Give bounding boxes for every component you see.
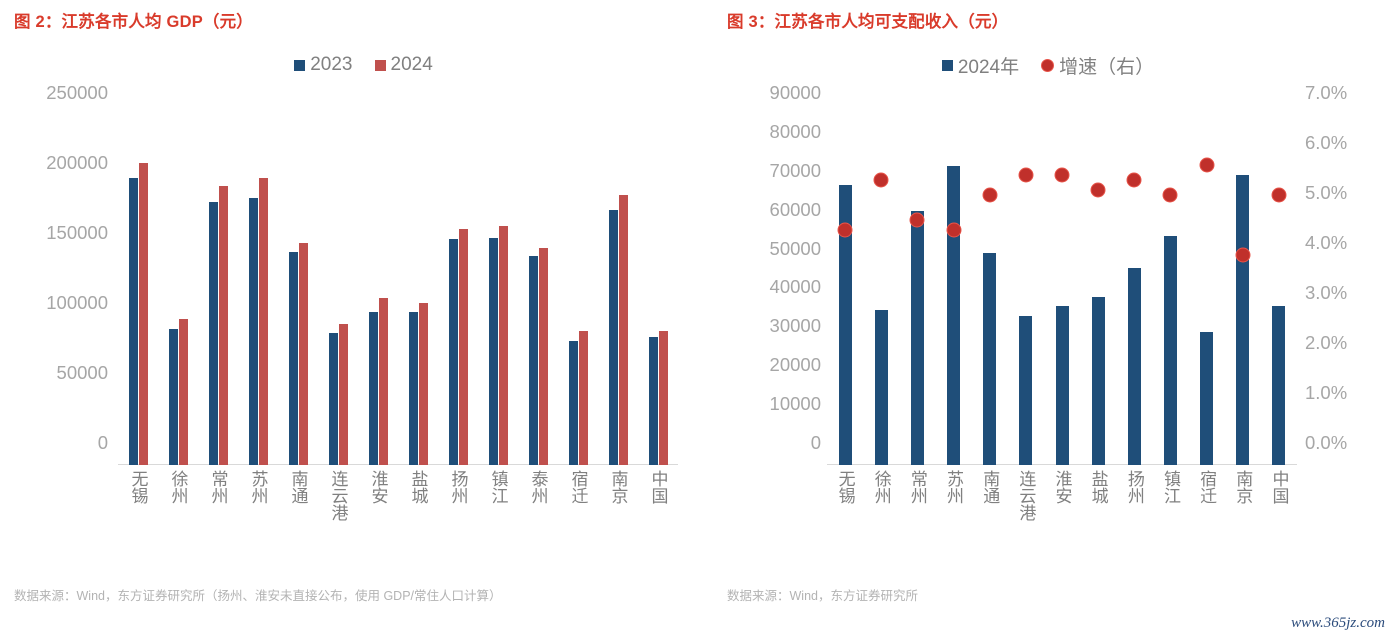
bar[interactable]: [579, 331, 588, 465]
x-axis-label: 宿迁: [1198, 470, 1215, 521]
y-axis-tick: 3.0%: [1305, 282, 1347, 304]
bar[interactable]: [1272, 306, 1285, 465]
x-axis-label: 盐城: [1090, 470, 1107, 521]
bar-group: [278, 115, 318, 465]
x-axis-label-cell: 镇江: [478, 470, 518, 521]
bar[interactable]: [649, 337, 658, 465]
bar[interactable]: [209, 202, 218, 465]
x-axis-label: 苏州: [945, 470, 962, 521]
bar[interactable]: [529, 256, 538, 465]
bar[interactable]: [409, 312, 418, 465]
bar-group: [638, 115, 678, 465]
bar[interactable]: [449, 239, 458, 465]
bar[interactable]: [1200, 332, 1213, 465]
x-axis-label-cell: 南通: [972, 470, 1008, 521]
bar[interactable]: [219, 186, 228, 465]
figure-3-y-axis-right: 0.0%1.0%2.0%3.0%4.0%5.0%6.0%7.0%: [1305, 115, 1395, 465]
bar-group: [558, 115, 598, 465]
bar-group: [1116, 115, 1152, 465]
bar-group: [863, 115, 899, 465]
figure-3-plot: [827, 115, 1297, 465]
x-axis-label: 宿迁: [570, 470, 587, 521]
x-axis-label: 淮安: [370, 470, 387, 521]
bar[interactable]: [139, 163, 148, 465]
y-axis-tick: 70000: [770, 160, 821, 182]
y-axis-tick: 40000: [770, 276, 821, 298]
y-axis-tick: 250000: [46, 82, 108, 104]
legend-item-2024[interactable]: 2024: [375, 54, 433, 76]
bar-series-container: [118, 115, 678, 465]
bar-group: [1189, 115, 1225, 465]
x-axis-label-cell: 无锡: [827, 470, 863, 521]
y-axis-tick: 50000: [57, 362, 108, 384]
x-axis-label: 南通: [290, 470, 307, 521]
x-axis-label-cell: 常州: [198, 470, 238, 521]
y-axis-tick: 1.0%: [1305, 382, 1347, 404]
x-axis-label-cell: 连云港: [318, 470, 358, 521]
legend-label: 2024: [391, 54, 433, 76]
bar[interactable]: [1128, 268, 1141, 465]
y-axis-tick: 0: [98, 432, 108, 454]
x-axis-label-cell: 南京: [1225, 470, 1261, 521]
legend-label: 2024年: [958, 52, 1019, 79]
bar[interactable]: [419, 303, 428, 465]
legend-item-2023[interactable]: 2023: [294, 54, 352, 76]
y-axis-tick: 0.0%: [1305, 432, 1347, 454]
bar-group: [1080, 115, 1116, 465]
legend-label: 增速（右）: [1059, 52, 1154, 79]
x-axis-label-cell: 中国: [638, 470, 678, 521]
bar[interactable]: [609, 210, 618, 465]
x-axis-label-cell: 扬州: [438, 470, 478, 521]
bar[interactable]: [539, 248, 548, 465]
y-axis-tick: 5.0%: [1305, 182, 1347, 204]
x-axis-label-cell: 无锡: [118, 470, 158, 521]
figure-2-x-axis-labels: 无锡徐州常州苏州南通连云港淮安盐城扬州镇江泰州宿迁南京中国: [118, 470, 678, 521]
y-axis-tick: 90000: [770, 82, 821, 104]
x-axis-label-cell: 连云港: [1008, 470, 1044, 521]
legend-swatch-icon: [942, 60, 953, 71]
bar-group: [899, 115, 935, 465]
bar[interactable]: [499, 226, 508, 465]
x-axis-label: 无锡: [837, 470, 854, 521]
bar-group: [1225, 115, 1261, 465]
bar-group: [827, 115, 863, 465]
bar[interactable]: [369, 312, 378, 465]
bar[interactable]: [299, 243, 308, 465]
legend-item-2024-year[interactable]: 2024年: [942, 52, 1019, 79]
bar[interactable]: [1019, 316, 1032, 465]
bar[interactable]: [339, 324, 348, 465]
x-axis-label: 泰州: [530, 470, 547, 521]
figure-3-legend: 2024年 增速（右）: [727, 54, 1399, 76]
bar-group: [935, 115, 971, 465]
bar[interactable]: [839, 185, 852, 465]
x-axis-label-cell: 宿迁: [558, 470, 598, 521]
x-axis-label: 盐城: [410, 470, 427, 521]
bar-group: [972, 115, 1008, 465]
bar-group: [1044, 115, 1080, 465]
bar[interactable]: [911, 211, 924, 465]
bar-group: [1152, 115, 1188, 465]
x-axis-label: 徐州: [873, 470, 890, 521]
y-axis-tick: 60000: [770, 199, 821, 221]
y-axis-tick: 80000: [770, 121, 821, 143]
x-axis-label-cell: 苏州: [238, 470, 278, 521]
x-axis-label: 苏州: [250, 470, 267, 521]
x-axis-label-cell: 徐州: [863, 470, 899, 521]
y-axis-tick: 7.0%: [1305, 82, 1347, 104]
x-axis-label-cell: 泰州: [518, 470, 558, 521]
bar[interactable]: [1092, 297, 1105, 465]
figure-2: 图 2：江苏各市人均 GDP（元） 2023 2024 050000100000…: [0, 0, 713, 640]
bar-group: [358, 115, 398, 465]
bar[interactable]: [489, 238, 498, 466]
bar-group: [118, 115, 158, 465]
x-axis-label: 徐州: [170, 470, 187, 521]
y-axis-tick: 30000: [770, 315, 821, 337]
bar[interactable]: [659, 331, 668, 465]
x-axis-label: 无锡: [130, 470, 147, 521]
x-axis-label-cell: 镇江: [1152, 470, 1188, 521]
legend-item-growth-rate[interactable]: 增速（右）: [1041, 52, 1154, 79]
x-axis-label: 常州: [909, 470, 926, 521]
x-axis-label: 中国: [1270, 470, 1287, 521]
bar-group: [198, 115, 238, 465]
bar[interactable]: [459, 229, 468, 465]
figure-3-source: 数据来源：Wind，东方证券研究所: [727, 586, 1327, 608]
x-axis-label: 连云港: [1017, 470, 1034, 521]
figure-3-title: 图 3：江苏各市人均可支配收入（元）: [727, 8, 1399, 32]
x-axis-label: 南京: [610, 470, 627, 521]
x-axis-label-cell: 常州: [899, 470, 935, 521]
bar-group: [518, 115, 558, 465]
y-axis-tick: 200000: [46, 152, 108, 174]
bar-group: [1008, 115, 1044, 465]
bar-group: [598, 115, 638, 465]
bar[interactable]: [169, 329, 178, 466]
x-axis-label-cell: 苏州: [935, 470, 971, 521]
figure-2-title: 图 2：江苏各市人均 GDP（元）: [14, 8, 713, 32]
legend-label: 2023: [310, 54, 352, 76]
bar[interactable]: [259, 178, 268, 465]
x-axis-label: 南通: [981, 470, 998, 521]
legend-swatch-icon: [294, 60, 305, 71]
x-axis-label-cell: 盐城: [1080, 470, 1116, 521]
figure-3: 图 3：江苏各市人均可支配收入（元） 2024年 增速（右） 010000200…: [713, 0, 1399, 640]
figure-2-source: 数据来源：Wind，东方证券研究所（扬州、淮安未直接公布，使用 GDP/常住人口…: [14, 586, 674, 608]
bar[interactable]: [569, 341, 578, 465]
x-axis-label: 扬州: [450, 470, 467, 521]
bar[interactable]: [1056, 306, 1069, 465]
x-axis-label: 中国: [650, 470, 667, 521]
x-axis-label-cell: 南通: [278, 470, 318, 521]
y-axis-tick: 150000: [46, 222, 108, 244]
figure-2-y-axis: 050000100000150000200000250000: [0, 115, 108, 465]
bar[interactable]: [379, 298, 388, 465]
bar-group: [398, 115, 438, 465]
figure-2-legend: 2023 2024: [14, 54, 713, 76]
bar[interactable]: [1164, 236, 1177, 465]
x-axis-label: 南京: [1234, 470, 1251, 521]
x-axis-label-cell: 淮安: [1044, 470, 1080, 521]
x-axis-label: 扬州: [1126, 470, 1143, 521]
y-axis-tick: 2.0%: [1305, 332, 1347, 354]
bar[interactable]: [289, 252, 298, 466]
bar-group: [1261, 115, 1297, 465]
x-axis-label: 常州: [210, 470, 227, 521]
y-axis-tick: 4.0%: [1305, 232, 1347, 254]
x-axis-label-cell: 中国: [1261, 470, 1297, 521]
bar[interactable]: [329, 333, 338, 465]
bar-group: [318, 115, 358, 465]
x-axis-label: 连云港: [330, 470, 347, 521]
bar[interactable]: [875, 310, 888, 465]
figure-3-x-axis-labels: 无锡徐州常州苏州南通连云港淮安盐城扬州镇江宿迁南京中国: [827, 470, 1297, 521]
figure-3-y-axis-left: 0100002000030000400005000060000700008000…: [717, 115, 821, 465]
x-axis-label-cell: 宿迁: [1189, 470, 1225, 521]
y-axis-tick: 100000: [46, 292, 108, 314]
figure-2-plot: [118, 115, 678, 465]
x-axis-label: 镇江: [490, 470, 507, 521]
bar[interactable]: [947, 166, 960, 465]
x-axis-label-cell: 淮安: [358, 470, 398, 521]
bar-group: [238, 115, 278, 465]
y-axis-tick: 50000: [770, 238, 821, 260]
x-axis-label-cell: 盐城: [398, 470, 438, 521]
x-axis-label: 镇江: [1162, 470, 1179, 521]
x-axis-label-cell: 南京: [598, 470, 638, 521]
bar[interactable]: [619, 195, 628, 465]
bar-group: [438, 115, 478, 465]
legend-dot-icon: [1041, 59, 1054, 72]
x-axis-label: 淮安: [1054, 470, 1071, 521]
legend-swatch-icon: [375, 60, 386, 71]
bar-group: [478, 115, 518, 465]
y-axis-tick: 6.0%: [1305, 132, 1347, 154]
x-axis-label-cell: 扬州: [1116, 470, 1152, 521]
bar[interactable]: [179, 319, 188, 465]
y-axis-tick: 20000: [770, 354, 821, 376]
y-axis-tick: 0: [811, 432, 821, 454]
bar[interactable]: [983, 253, 996, 465]
x-axis-label-cell: 徐州: [158, 470, 198, 521]
bar-group: [158, 115, 198, 465]
bar-series-container: [827, 115, 1297, 465]
figure-pair: 图 2：江苏各市人均 GDP（元） 2023 2024 050000100000…: [0, 0, 1399, 640]
bar[interactable]: [249, 198, 258, 465]
bar[interactable]: [129, 178, 138, 465]
watermark: www.365jz.com: [1291, 615, 1385, 632]
bar[interactable]: [1236, 175, 1249, 465]
y-axis-tick: 10000: [770, 393, 821, 415]
